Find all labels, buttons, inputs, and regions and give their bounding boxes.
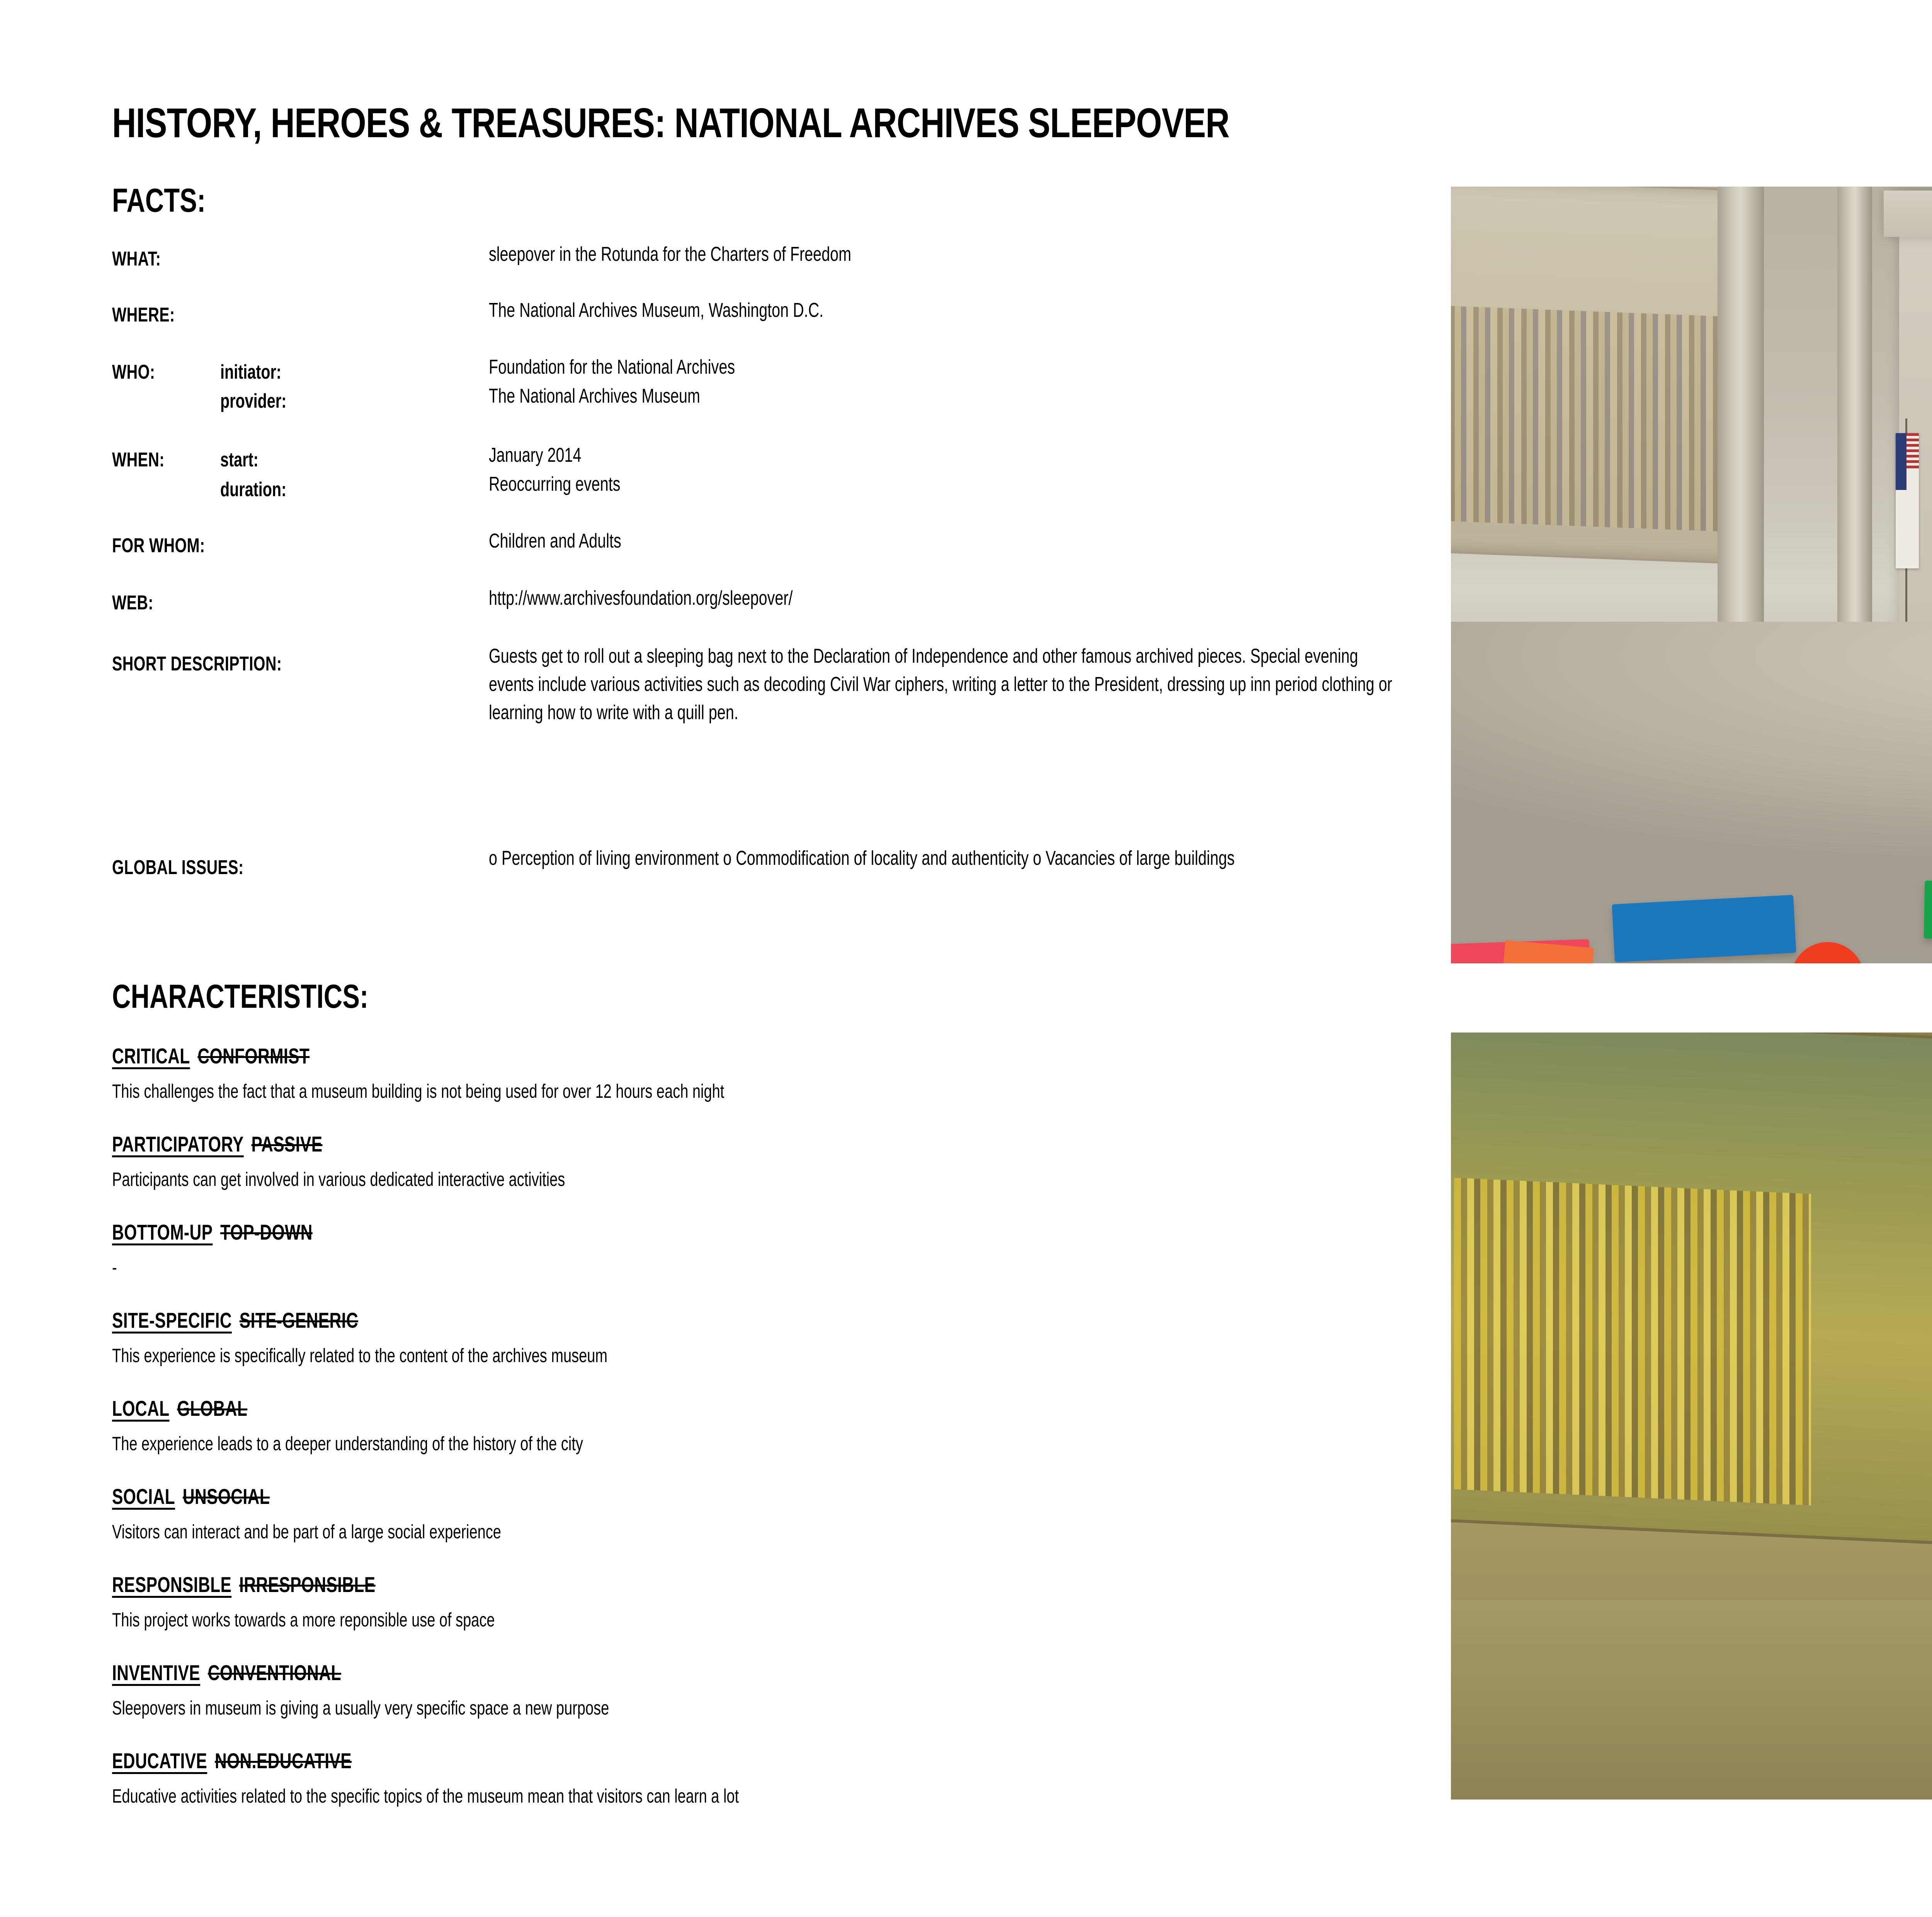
mural-figures <box>1451 306 1720 532</box>
characteristic-terms: LOCALGLOBAL <box>112 1396 583 1421</box>
characteristic-item-educative: EDUCATIVENON.EDUCATIVE Educative activit… <box>112 1748 937 1807</box>
shrine-cornice <box>1884 191 1932 237</box>
fact-value-duration: Reoccurring events <box>489 473 620 496</box>
fact-value-web[interactable]: http://www.archivesfoundation.org/sleepo… <box>489 587 793 610</box>
characteristic-rejected-term: UNSOCIAL <box>183 1484 270 1509</box>
fact-sublabel-duration: duration: <box>220 478 286 501</box>
characteristic-rejected-term: TOP-DOWN <box>220 1220 313 1244</box>
characteristic-item-bottom-up: BOTTOM-UPTOP-DOWN - <box>112 1220 376 1279</box>
characteristic-selected-term: EDUCATIVE <box>112 1749 207 1773</box>
characteristic-rejected-term: CONFORMIST <box>197 1044 310 1068</box>
characteristic-rejected-term: SITE-GENERIC <box>240 1308 358 1332</box>
facts-section-heading: FACTS: <box>112 182 206 220</box>
fact-value-initiator: Foundation for the National Archives <box>489 356 735 379</box>
fact-label-short-description: SHORT DESCRIPTION: <box>112 652 282 675</box>
characteristic-terms: CRITICALCONFORMIST <box>112 1043 724 1068</box>
fact-label-what: WHAT: <box>112 247 161 270</box>
characteristic-description: Sleepovers in museum is giving a usually… <box>112 1697 609 1719</box>
characteristic-rejected-term: CONVENTIONAL <box>208 1660 341 1685</box>
fact-value-short-description: Guests get to roll out a sleeping bag ne… <box>489 642 1399 726</box>
characteristic-item-social: SOCIALUNSOCIAL Visitors can interact and… <box>112 1484 624 1543</box>
characteristic-item-local: LOCALGLOBAL The experience leads to a de… <box>112 1396 732 1455</box>
characteristic-selected-term: RESPONSIBLE <box>112 1572 231 1597</box>
fact-label-global-issues: GLOBAL ISSUES: <box>112 856 244 879</box>
characteristic-terms: SOCIALUNSOCIAL <box>112 1484 501 1509</box>
characteristic-item-responsible: RESPONSIBLEIRRESPONSIBLE This project wo… <box>112 1572 616 1631</box>
characteristics-section-heading: CHARACTERISTICS: <box>112 978 368 1016</box>
characteristic-terms: PARTICIPATORYPASSIVE <box>112 1131 565 1157</box>
characteristic-rejected-term: GLOBAL <box>177 1396 247 1420</box>
characteristic-rejected-term: IRRESPONSIBLE <box>239 1572 376 1597</box>
characteristic-selected-term: CRITICAL <box>112 1044 190 1068</box>
characteristic-item-inventive: INVENTIVECONVENTIONAL Sleepovers in muse… <box>112 1660 766 1719</box>
characteristic-selected-term: LOCAL <box>112 1396 169 1420</box>
characteristic-item-participatory: PARTICIPATORYPASSIVE Participants can ge… <box>112 1131 708 1191</box>
characteristic-rejected-term: PASSIVE <box>251 1132 322 1156</box>
fact-value-what: sleepover in the Rotunda for the Charter… <box>489 243 851 266</box>
photo-rotunda-sleeping-bags <box>1451 187 1932 963</box>
characteristic-description: This challenges the fact that a museum b… <box>112 1080 724 1102</box>
fact-value-where: The National Archives Museum, Washington… <box>489 299 823 322</box>
characteristic-selected-term: SOCIAL <box>112 1484 175 1509</box>
characteristic-description: This experience is specifically related … <box>112 1344 607 1367</box>
sleeping-bag <box>1924 881 1932 942</box>
mural-figures <box>1454 1178 1811 1505</box>
characteristic-description: Educative activities related to the spec… <box>112 1785 739 1807</box>
characteristic-description: This project works towards a more repons… <box>112 1609 495 1631</box>
fact-label-who: WHO: <box>112 361 155 384</box>
fact-sublabel-start: start: <box>220 448 259 471</box>
rotunda-floor <box>1451 1600 1932 1800</box>
characteristic-terms: INVENTIVECONVENTIONAL <box>112 1660 609 1685</box>
fact-value-for-whom: Children and Adults <box>489 529 621 553</box>
characteristic-rejected-term: NON.EDUCATIVE <box>215 1749 352 1773</box>
characteristic-item-critical: CRITICALCONFORMIST This challenges the f… <box>112 1043 918 1102</box>
fact-value-global-issues: o Perception of living environment o Com… <box>489 844 1399 873</box>
page-title: HISTORY, HEROES & TREASURES: NATIONAL AR… <box>112 99 1230 147</box>
characteristic-description: The experience leads to a deeper underst… <box>112 1432 583 1455</box>
characteristic-selected-term: BOTTOM-UP <box>112 1220 213 1244</box>
poster-page: HISTORY, HEROES & TREASURES: NATIONAL AR… <box>0 0 1932 1917</box>
fact-label-web: WEB: <box>112 591 153 614</box>
characteristic-terms: SITE-SPECIFICSITE-GENERIC <box>112 1308 607 1333</box>
characteristic-description: Visitors can interact and be part of a l… <box>112 1521 501 1543</box>
characteristic-selected-term: INVENTIVE <box>112 1660 200 1685</box>
pilaster <box>1718 187 1764 650</box>
characteristic-terms: EDUCATIVENON.EDUCATIVE <box>112 1748 739 1773</box>
fact-value-start: January 2014 <box>489 444 581 467</box>
characteristic-selected-term: SITE-SPECIFIC <box>112 1308 232 1332</box>
fact-sublabel-initiator: initiator: <box>220 361 281 384</box>
characteristic-terms: BOTTOM-UPTOP-DOWN <box>112 1220 313 1245</box>
photo-rotunda-sleepover-crowd <box>1451 1032 1932 1800</box>
sleeping-bag <box>1612 895 1796 962</box>
fact-sublabel-provider: provider: <box>220 390 286 413</box>
fact-label-for-whom: FOR WHOM: <box>112 534 205 557</box>
fact-label-when: WHEN: <box>112 448 165 471</box>
fact-value-provider: The National Archives Museum <box>489 384 700 408</box>
characteristic-description: - <box>112 1256 313 1279</box>
pilaster <box>1837 187 1872 670</box>
characteristic-description: Participants can get involved in various… <box>112 1168 565 1191</box>
us-flag-left <box>1896 433 1919 568</box>
characteristic-item-site-specific: SITE-SPECIFICSITE-GENERIC This experienc… <box>112 1308 764 1367</box>
characteristic-terms: RESPONSIBLEIRRESPONSIBLE <box>112 1572 495 1597</box>
mural-left <box>1451 187 1734 564</box>
fact-label-where: WHERE: <box>112 303 175 327</box>
characteristic-selected-term: PARTICIPATORY <box>112 1132 244 1156</box>
mural-declaration <box>1451 1032 1932 1545</box>
